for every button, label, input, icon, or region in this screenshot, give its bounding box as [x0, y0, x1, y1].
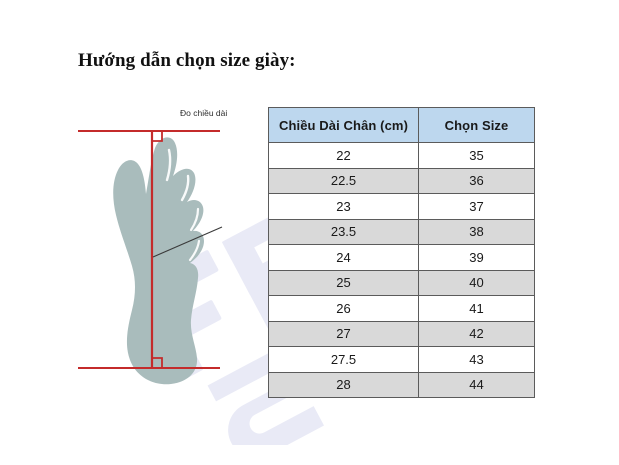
- foot-measurement-diagram: Đo chiều dài: [70, 110, 270, 390]
- page-title: Hướng dẫn chọn size giày:: [78, 50, 296, 72]
- table-row: 26 41: [269, 296, 535, 322]
- cell-shoe-size: 43: [419, 347, 535, 373]
- table-header-row: Chiều Dài Chân (cm) Chọn Size: [269, 108, 535, 143]
- cell-shoe-size: 44: [419, 372, 535, 398]
- table-row: 28 44: [269, 372, 535, 398]
- cell-foot-length: 28: [269, 372, 419, 398]
- cell-shoe-size: 36: [419, 168, 535, 194]
- shoe-size-guide-page: Hướng dẫn chọn size giày:: [0, 0, 619, 465]
- cell-foot-length: 23: [269, 194, 419, 220]
- cell-foot-length: 24: [269, 245, 419, 271]
- cell-shoe-size: 39: [419, 245, 535, 271]
- column-header-foot-length: Chiều Dài Chân (cm): [269, 108, 419, 143]
- cell-foot-length: 26: [269, 296, 419, 322]
- cell-shoe-size: 37: [419, 194, 535, 220]
- cell-foot-length: 22.5: [269, 168, 419, 194]
- cell-foot-length: 25: [269, 270, 419, 296]
- column-header-shoe-size: Chọn Size: [419, 108, 535, 143]
- cell-foot-length: 27: [269, 321, 419, 347]
- size-chart-table: Chiều Dài Chân (cm) Chọn Size 22 35 22.5…: [268, 107, 535, 398]
- cell-foot-length: 22: [269, 143, 419, 169]
- cell-shoe-size: 38: [419, 219, 535, 245]
- table-row: 27.5 43: [269, 347, 535, 373]
- table-row: 22 35: [269, 143, 535, 169]
- table-row: 23.5 38: [269, 219, 535, 245]
- cell-shoe-size: 42: [419, 321, 535, 347]
- foot-silhouette: [113, 137, 204, 384]
- table-row: 24 39: [269, 245, 535, 271]
- table-row: 27 42: [269, 321, 535, 347]
- cell-foot-length: 23.5: [269, 219, 419, 245]
- measure-length-label: Đo chiều dài: [180, 108, 227, 118]
- cell-shoe-size: 35: [419, 143, 535, 169]
- size-chart-container: Chiều Dài Chân (cm) Chọn Size 22 35 22.5…: [268, 107, 535, 398]
- cell-foot-length: 27.5: [269, 347, 419, 373]
- table-row: 25 40: [269, 270, 535, 296]
- cell-shoe-size: 41: [419, 296, 535, 322]
- cell-shoe-size: 40: [419, 270, 535, 296]
- table-row: 22.5 36: [269, 168, 535, 194]
- table-row: 23 37: [269, 194, 535, 220]
